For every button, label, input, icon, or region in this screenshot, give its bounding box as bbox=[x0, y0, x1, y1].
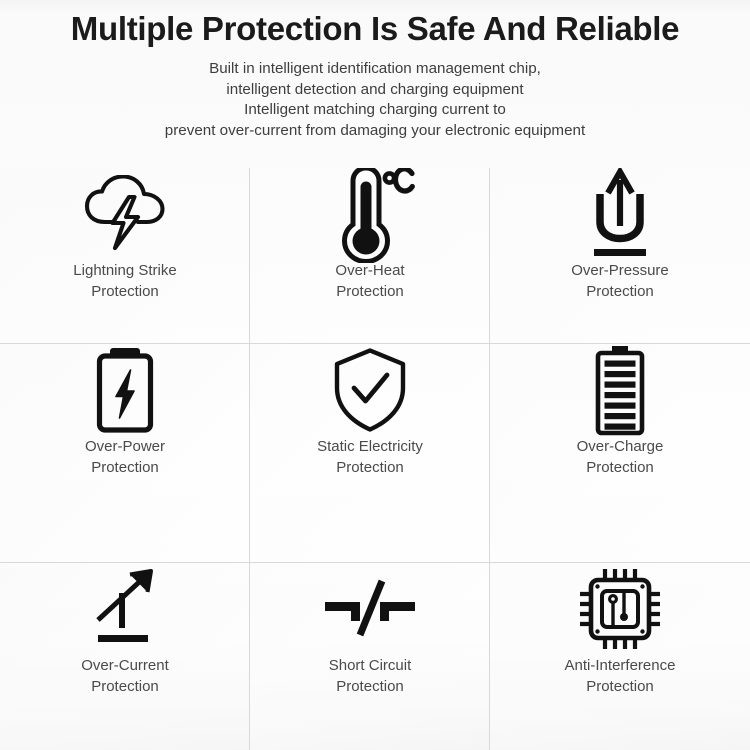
feature-cell-over-charge: Over-Charge Protection bbox=[490, 344, 750, 563]
rising-arrow-bar-icon bbox=[89, 563, 161, 655]
feature-label-line1: Static Electricity bbox=[317, 436, 423, 457]
subtitle-line-1: Built in intelligent identification mana… bbox=[0, 59, 750, 80]
feature-cell-anti-interference: Anti-Interference Protection bbox=[490, 563, 750, 750]
page-title: Multiple Protection Is Safe And Reliable bbox=[0, 6, 750, 52]
feature-label: Lightning Strike Protection bbox=[73, 260, 176, 302]
feature-label-line1: Over-Current bbox=[81, 655, 169, 676]
feature-label-line1: Over-Power bbox=[85, 436, 165, 457]
feature-label-line2: Protection bbox=[335, 281, 404, 302]
feature-grid: Lightning Strike Protection bbox=[0, 168, 750, 750]
feature-label-line2: Protection bbox=[317, 457, 423, 478]
microchip-icon bbox=[577, 563, 663, 655]
feature-cell-over-current: Over-Current Protection bbox=[0, 563, 250, 750]
feature-label: Over-Pressure Protection bbox=[571, 260, 669, 302]
feature-cell-over-heat: Over-Heat Protection bbox=[250, 168, 490, 344]
feature-label: Over-Charge Protection bbox=[577, 436, 664, 478]
feature-label: Anti-Interference Protection bbox=[565, 655, 676, 697]
feature-label: Short Circuit Protection bbox=[329, 655, 412, 697]
feature-label-line1: Lightning Strike bbox=[73, 260, 176, 281]
feature-label: Over-Power Protection bbox=[85, 436, 165, 478]
feature-label-line2: Protection bbox=[329, 676, 412, 697]
feature-label-line1: Over-Pressure bbox=[571, 260, 669, 281]
feature-label: Over-Current Protection bbox=[81, 655, 169, 697]
subtitle-line-3: Intelligent matching charging current to bbox=[0, 100, 750, 121]
up-arrow-bar-icon bbox=[583, 168, 657, 260]
header: Multiple Protection Is Safe And Reliable… bbox=[0, 0, 750, 141]
feature-label: Static Electricity Protection bbox=[317, 436, 423, 478]
cloud-lightning-icon bbox=[82, 168, 168, 260]
subtitle-line-4: prevent over-current from damaging your … bbox=[0, 121, 750, 142]
protection-features-page: Multiple Protection Is Safe And Reliable… bbox=[0, 0, 750, 750]
feature-cell-over-power: Over-Power Protection bbox=[0, 344, 250, 563]
shield-check-icon bbox=[330, 344, 410, 436]
thermometer-celsius-icon bbox=[324, 168, 416, 260]
feature-cell-short-circuit: Short Circuit Protection bbox=[250, 563, 490, 750]
battery-full-icon bbox=[590, 344, 650, 436]
feature-label-line2: Protection bbox=[577, 457, 664, 478]
feature-label: Over-Heat Protection bbox=[335, 260, 404, 302]
feature-cell-lightning-strike: Lightning Strike Protection bbox=[0, 168, 250, 344]
feature-label-line2: Protection bbox=[81, 676, 169, 697]
feature-label-line1: Short Circuit bbox=[329, 655, 412, 676]
feature-label-line2: Protection bbox=[571, 281, 669, 302]
feature-label-line1: Over-Heat bbox=[335, 260, 404, 281]
feature-cell-over-pressure: Over-Pressure Protection bbox=[490, 168, 750, 344]
feature-label-line2: Protection bbox=[73, 281, 176, 302]
feature-cell-static-electricity: Static Electricity Protection bbox=[250, 344, 490, 563]
page-subtitle: Built in intelligent identification mana… bbox=[0, 59, 750, 141]
feature-label-line2: Protection bbox=[85, 457, 165, 478]
feature-label-line1: Over-Charge bbox=[577, 436, 664, 457]
short-circuit-icon bbox=[323, 563, 417, 655]
battery-bolt-icon bbox=[92, 344, 158, 436]
feature-label-line1: Anti-Interference bbox=[565, 655, 676, 676]
subtitle-line-2: intelligent detection and charging equip… bbox=[0, 80, 750, 101]
feature-label-line2: Protection bbox=[565, 676, 676, 697]
